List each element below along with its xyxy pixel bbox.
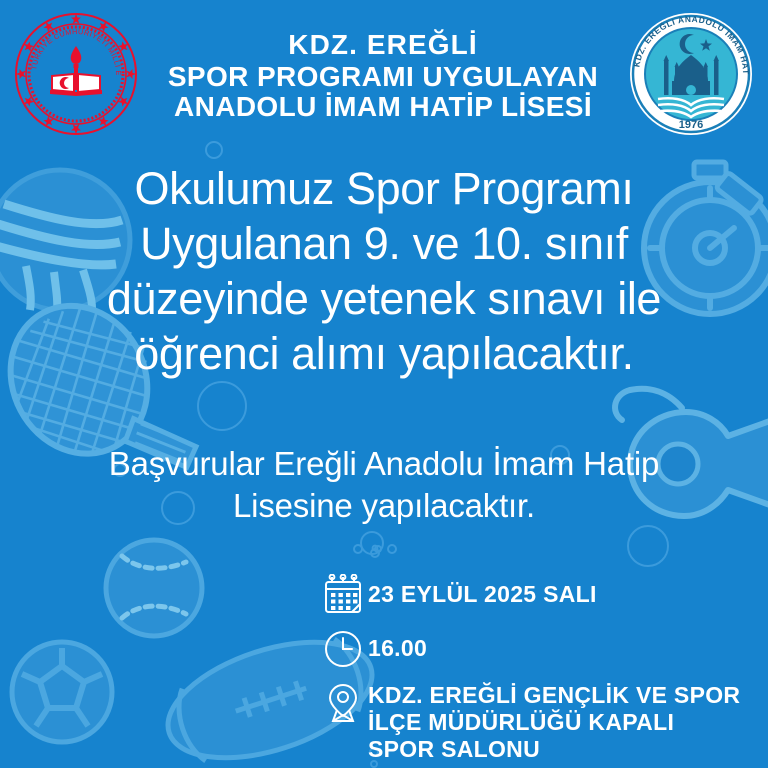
map-pin-icon	[322, 680, 368, 726]
headline-line-3: düzeyinde yetenek sınavı ile	[22, 272, 746, 327]
header-title-line-2: SPOR PROGRAMI UYGULAYAN	[142, 62, 624, 92]
event-date: 23 EYLÜL 2025 SALI	[368, 572, 597, 608]
headline-line-1: Okulumuz Spor Programı	[22, 162, 746, 217]
poster-header: TÜRKİYE CUMHURİYETİ MİLLİ EĞİTİM BAK KDZ…	[0, 0, 768, 152]
headline-line-2: Uygulanan 9. ve 10. sınıf	[22, 217, 746, 272]
location-line-1: KDZ. EREĞLİ GENÇLİK VE SPOR	[368, 682, 740, 709]
header-title-line-3: ANADOLU İMAM HATİP LİSESİ	[142, 92, 624, 122]
detail-row-date: 23 EYLÜL 2025 SALI	[322, 572, 740, 618]
event-location: KDZ. EREĞLİ GENÇLİK VE SPOR İLÇE MÜDÜRLÜ…	[368, 680, 740, 763]
headline-line-4: öğrenci alımı yapılacaktır.	[22, 327, 746, 382]
event-time: 16.00	[368, 626, 427, 662]
baseball-icon	[106, 540, 202, 636]
school-logo-year: 1976	[679, 119, 703, 131]
location-line-3: SPOR SALONU	[368, 736, 740, 763]
header-title-line-1: KDZ. EREĞLİ	[142, 30, 624, 60]
detail-row-time: 16.00	[322, 626, 740, 672]
header-title-block: KDZ. EREĞLİ SPOR PROGRAMI UYGULAYAN ANAD…	[138, 30, 628, 123]
poster: TÜRKİYE CUMHURİYETİ MİLLİ EĞİTİM BAK KDZ…	[0, 0, 768, 768]
clock-icon	[322, 626, 368, 672]
application-note: Başvurular Ereğli Anadolu İmam Hatip Lis…	[20, 443, 748, 527]
meb-torch-book	[50, 46, 102, 96]
meb-logo: TÜRKİYE CUMHURİYETİ MİLLİ EĞİTİM BAK	[14, 12, 138, 141]
school-logo: KDZ. EREĞLI ANADOLU İMAM HATİP LİSESİ	[628, 11, 754, 142]
soccer-ball-icon	[12, 642, 112, 742]
calendar-icon	[322, 572, 368, 618]
subline-line-1: Başvurular Ereğli Anadolu İmam Hatip	[20, 443, 748, 485]
event-details: 23 EYLÜL 2025 SALI 16.00	[322, 572, 740, 763]
location-line-2: İLÇE MÜDÜRLÜĞÜ KAPALI	[368, 709, 740, 736]
main-headline: Okulumuz Spor Programı Uygulanan 9. ve 1…	[22, 162, 746, 382]
detail-row-location: KDZ. EREĞLİ GENÇLİK VE SPOR İLÇE MÜDÜRLÜ…	[322, 680, 740, 763]
subline-line-2: Lisesine yapılacaktır.	[20, 485, 748, 527]
